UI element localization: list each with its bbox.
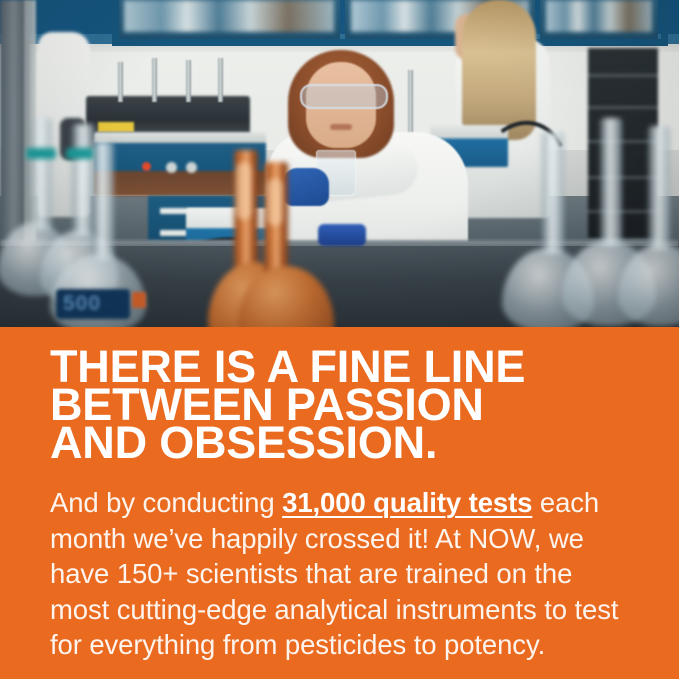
instrument-power-indicator: [142, 162, 151, 171]
safety-goggles: [300, 84, 388, 109]
headline: THERE IS A FINE LINE BETWEEN PASSION AND…: [50, 348, 650, 462]
quality-tests-emphasis: 31,000 quality tests: [282, 487, 532, 518]
retort-stand-rod-c: [186, 60, 191, 102]
blue-nitrile-glove: [283, 168, 329, 206]
instrument-warning-label: [98, 122, 134, 132]
flask-volume-label: 500: [56, 289, 130, 319]
flask-volume-text: 500: [63, 292, 101, 316]
lab-photo: 500: [0, 0, 679, 327]
foreground-scientist-mouth: [330, 124, 352, 130]
body-copy: And by conducting 31,000 quality tests e…: [50, 485, 628, 663]
retort-stand-rod-b: [152, 58, 157, 102]
background-scientist-right-hair: [462, 0, 536, 140]
retort-stand-rod-a: [118, 62, 123, 102]
blue-reagent-bottle: [318, 224, 366, 246]
upper-cabinet-frame: [112, 0, 668, 46]
advertisement-card: 500 THERE IS A FINE LINE: [0, 0, 679, 679]
orange-message-panel: THERE IS A FINE LINE BETWEEN PASSION AND…: [0, 327, 679, 679]
body-copy-before: And by conducting: [50, 487, 282, 518]
retort-stand-rod-d: [218, 58, 223, 102]
flask-sticker-tab: [132, 292, 146, 308]
